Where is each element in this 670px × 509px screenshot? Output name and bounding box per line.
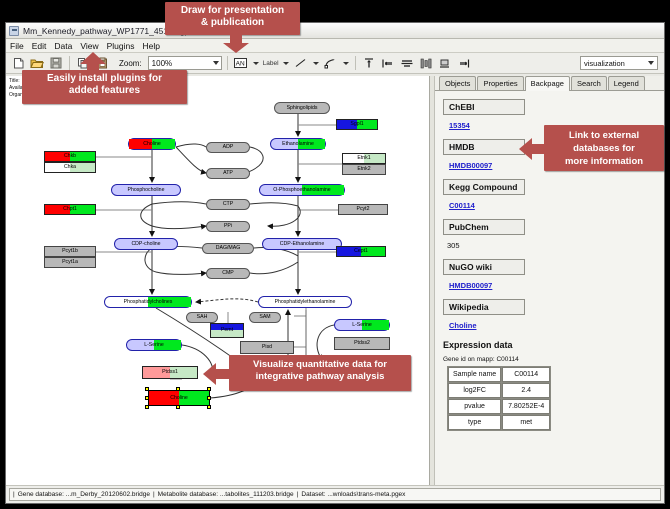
- resize-handle-se[interactable]: [207, 405, 211, 409]
- node-o-phosphoethanolamine[interactable]: O-Phosphoethanolamine: [259, 184, 345, 196]
- resize-handle-sw[interactable]: [145, 405, 149, 409]
- cell-key-log2fc: log2FC: [448, 383, 501, 398]
- statusbar-content: | Gene database: ...m_Derby_20120602.bri…: [9, 488, 661, 501]
- datanode-dropdown-arrow[interactable]: [252, 55, 260, 71]
- callout-visualize-data: Visualize quantitative data for integrat…: [229, 355, 411, 391]
- tab-search[interactable]: Search: [571, 76, 607, 90]
- cell-value-type: met: [502, 415, 550, 430]
- line-dropdown-arrow[interactable]: [312, 55, 320, 71]
- status-metabolite-database: Metabolite database: ...tabolites_111203…: [158, 491, 294, 498]
- tab-backpage[interactable]: Backpage: [525, 76, 570, 91]
- node-gene-ptdss2[interactable]: Ptdss2: [334, 337, 390, 350]
- cell-key-sample-name: Sample name: [448, 367, 501, 382]
- toolbar-separator: [69, 56, 70, 70]
- db-value-pubchem: 305: [447, 241, 460, 250]
- node-cdp-choline[interactable]: CDP-choline: [114, 238, 178, 250]
- menu-view[interactable]: View: [80, 41, 98, 51]
- resize-handle-e[interactable]: [207, 396, 211, 400]
- align-left-icon[interactable]: [380, 55, 396, 71]
- callout-viz-line2: integrative pathway analysis: [229, 371, 411, 383]
- node-choline-top[interactable]: Choline: [128, 138, 176, 150]
- menu-file[interactable]: File: [10, 41, 24, 51]
- align-middle-icon[interactable]: [399, 55, 415, 71]
- node-cmp[interactable]: CMP: [206, 268, 250, 279]
- datanode-icon[interactable]: AN: [233, 55, 249, 71]
- status-sep-0: |: [13, 491, 15, 498]
- statusbar: | Gene database: ...m_Derby_20120602.bri…: [6, 485, 664, 503]
- db-name-wikipedia: Wikipedia: [443, 299, 525, 315]
- node-gene-etnk2[interactable]: Etnk2: [342, 164, 386, 175]
- status-dataset: Dataset: ...wnloads\trans-meta.pgex: [301, 491, 405, 498]
- db-name-kegg: Kegg Compound: [443, 179, 525, 195]
- tab-objects[interactable]: Objects: [439, 76, 476, 90]
- toolbar-separator-2: [227, 56, 228, 70]
- tab-legend[interactable]: Legend: [608, 76, 645, 90]
- callout-link-line2: databases for: [544, 142, 664, 155]
- node-choline-selected[interactable]: Choline: [148, 390, 210, 406]
- status-sep-1: |: [153, 491, 155, 498]
- node-l-serine-right[interactable]: L-Serine: [334, 319, 390, 331]
- callout-draw-line1: Draw for presentation: [165, 5, 300, 17]
- node-gene-chka[interactable]: Chka: [44, 162, 96, 173]
- node-gene-chkb[interactable]: Chkb: [44, 151, 96, 162]
- node-gene-sgpl1[interactable]: Sgpl1: [336, 119, 378, 130]
- table-row: type met: [448, 415, 550, 430]
- node-adp[interactable]: ADP: [206, 142, 250, 153]
- db-block-wikipedia: Wikipedia Choline: [443, 297, 658, 333]
- cell-key-type: type: [448, 415, 501, 430]
- db-name-hmdb: HMDB: [443, 139, 525, 155]
- new-document-icon[interactable]: [10, 55, 26, 71]
- arc-tool-icon[interactable]: [323, 55, 339, 71]
- db-block-nugo: NuGO wiki HMDB00097: [443, 257, 658, 293]
- zoom-label: Zoom:: [119, 59, 142, 68]
- cell-key-pvalue: pvalue: [448, 399, 501, 414]
- db-link-kegg[interactable]: C00114: [449, 201, 475, 210]
- distribute-horizontal-icon[interactable]: [418, 55, 434, 71]
- toolbar-separator-3: [355, 56, 356, 70]
- db-link-chebi[interactable]: 15354: [449, 121, 470, 130]
- menubar: File Edit Data View Plugins Help: [6, 39, 664, 53]
- expression-data-title: Expression data: [443, 340, 658, 350]
- node-cdp-ethanolamine[interactable]: CDP-Ethanolamine: [262, 238, 342, 250]
- gene-id-on-mapp: Gene id on mapp: C00114: [443, 356, 658, 363]
- node-phosphocholine[interactable]: Phosphocholine: [111, 184, 181, 196]
- node-gene-pcyt1b[interactable]: Pcyt1b: [44, 246, 96, 257]
- chevron-down-icon: [213, 61, 219, 65]
- resize-handle-n[interactable]: [176, 387, 180, 391]
- node-sam[interactable]: SAM: [249, 312, 281, 323]
- callout-link-line3: more information: [544, 155, 664, 168]
- menu-edit[interactable]: Edit: [32, 41, 47, 51]
- table-row: log2FC 2.4: [448, 383, 550, 398]
- window-titlebar: Mm_Kennedy_pathway_WP1771_45176.gpml: [6, 23, 664, 39]
- table-row: pvalue 7.80252E-4: [448, 399, 550, 414]
- node-gene-chpt1[interactable]: Chpt1: [44, 204, 96, 215]
- arc-dropdown-arrow[interactable]: [342, 55, 350, 71]
- side-panel-tabs: Objects Properties Backpage Search Legen…: [435, 76, 664, 91]
- node-ppi[interactable]: PPi: [206, 221, 250, 232]
- db-block-kegg: Kegg Compound C00114: [443, 177, 658, 213]
- save-disk-icon[interactable]: [48, 55, 64, 71]
- callout-external-links: Link to external databases for more info…: [544, 125, 664, 171]
- node-sphingolipids[interactable]: Sphingolipids: [274, 102, 330, 114]
- cell-value-pvalue: 7.80252E-4: [502, 399, 550, 414]
- expression-table: Sample name C00114 log2FC 2.4 pvalue 7.8…: [447, 366, 551, 431]
- node-gene-ptdss1[interactable]: Ptdss1: [142, 366, 198, 379]
- pathway-edges: [6, 76, 430, 485]
- chevron-down-icon-viz: [648, 61, 654, 65]
- db-block-pubchem: PubChem 305: [443, 217, 658, 253]
- callout-install-plugins: Easily install plugins for added feature…: [22, 70, 187, 104]
- cell-value-log2fc: 2.4: [502, 383, 550, 398]
- open-folder-icon[interactable]: [29, 55, 45, 71]
- callout-plugins-line1: Easily install plugins for: [22, 73, 187, 85]
- node-gene-cept1[interactable]: Cept1: [336, 246, 386, 257]
- label-dropdown-arrow[interactable]: [282, 55, 290, 71]
- node-ctp[interactable]: CTP: [206, 199, 250, 210]
- pathway-canvas[interactable]: Title: Availa Organ: [6, 76, 430, 485]
- status-gene-database: Gene database: ...m_Derby_20120602.bridg…: [18, 491, 150, 498]
- label-tool-label[interactable]: Label: [263, 60, 279, 67]
- status-sep-2: |: [297, 491, 299, 498]
- callout-plugins-line2: added features: [22, 85, 187, 97]
- node-ethanolamine[interactable]: Ethanolamine: [270, 138, 326, 150]
- align-top-icon[interactable]: [361, 55, 377, 71]
- app-window-icon: [9, 26, 19, 36]
- resize-handle-nw[interactable]: [145, 387, 149, 391]
- db-link-wikipedia[interactable]: Choline: [449, 321, 477, 330]
- node-gene-pemt[interactable]: Pemt: [210, 323, 244, 338]
- line-tool-icon[interactable]: [293, 55, 309, 71]
- callout-link-line1: Link to external: [544, 129, 664, 142]
- node-phosphatidylcholines[interactable]: Phosphatidylcholines: [104, 296, 192, 308]
- visualization-value: visualization: [584, 59, 625, 68]
- cell-value-sample-name: C00114: [502, 367, 550, 382]
- svg-text:AN: AN: [236, 60, 245, 67]
- menu-help[interactable]: Help: [143, 41, 160, 51]
- screenshot-root: Mm_Kennedy_pathway_WP1771_45176.gpml Fil…: [0, 0, 670, 509]
- align-right-icon[interactable]: [456, 55, 472, 71]
- visualization-combobox[interactable]: visualization: [580, 56, 658, 70]
- zoom-combobox[interactable]: 100%: [148, 56, 222, 70]
- zoom-value: 100%: [152, 59, 172, 68]
- node-phosphatidylethanolamine[interactable]: Phosphatidylethanolamine: [258, 296, 352, 308]
- resize-handle-w[interactable]: [145, 396, 149, 400]
- db-name-pubchem: PubChem: [443, 219, 525, 235]
- callout-draw-for-publication: Draw for presentation & publication: [165, 2, 300, 35]
- node-gene-pcyt1a[interactable]: Pcyt1a: [44, 257, 96, 268]
- menu-plugins[interactable]: Plugins: [107, 41, 135, 51]
- node-dag-mag[interactable]: DAG/MAG: [202, 243, 254, 254]
- node-gene-pisd[interactable]: Pisd: [240, 341, 294, 354]
- db-link-nugo[interactable]: HMDB00097: [449, 281, 492, 290]
- node-l-serine-left[interactable]: L-Serine: [126, 339, 182, 351]
- align-bottom-icon[interactable]: [437, 55, 453, 71]
- node-gene-pcyt2[interactable]: Pcyt2: [338, 204, 388, 215]
- db-name-nugo: NuGO wiki: [443, 259, 525, 275]
- node-atp[interactable]: ATP: [206, 168, 250, 179]
- tab-properties[interactable]: Properties: [477, 76, 523, 90]
- node-gene-etnk1[interactable]: Etnk1: [342, 153, 386, 164]
- db-link-hmdb[interactable]: HMDB00097: [449, 161, 492, 170]
- callout-viz-line1: Visualize quantitative data for: [229, 359, 411, 371]
- callout-draw-line2: & publication: [165, 17, 300, 29]
- db-name-chebi: ChEBI: [443, 99, 525, 115]
- resize-handle-ne[interactable]: [207, 387, 211, 391]
- table-row: Sample name C00114: [448, 367, 550, 382]
- menu-data[interactable]: Data: [54, 41, 72, 51]
- node-sah[interactable]: SAH: [186, 312, 218, 323]
- resize-handle-s[interactable]: [176, 405, 180, 409]
